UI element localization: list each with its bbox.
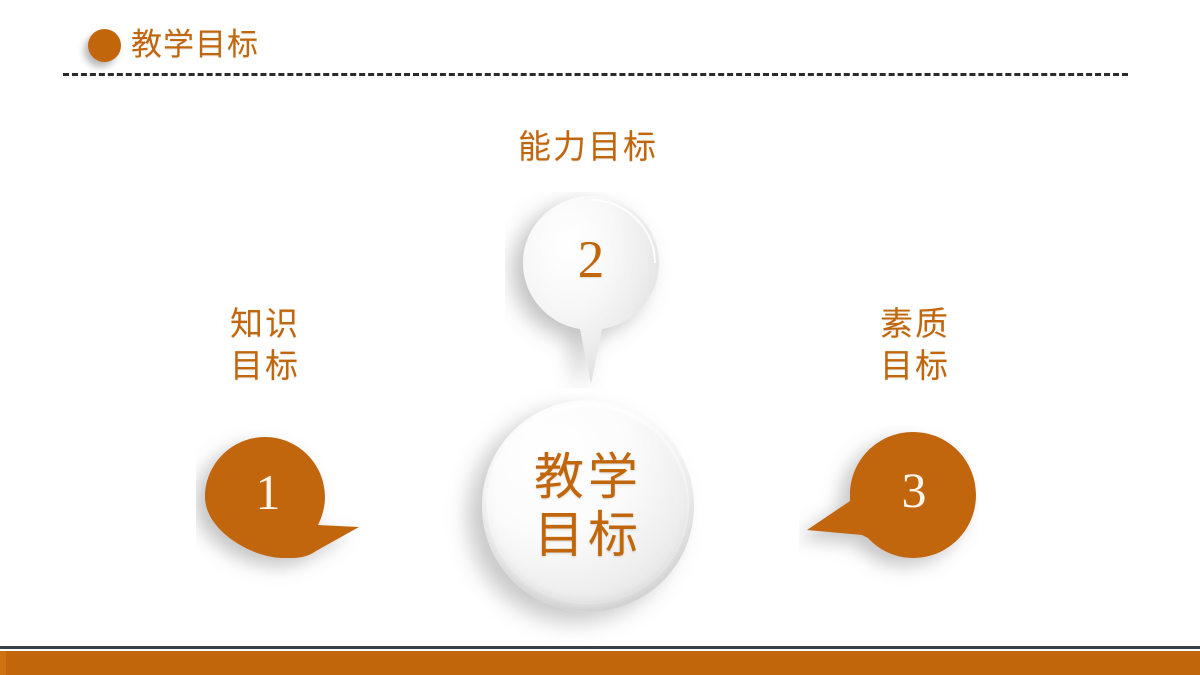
balloon-shape-light [505, 192, 677, 388]
footer-accent-bar [0, 651, 1200, 675]
footer-divider-line [0, 646, 1200, 649]
diagram-center-node[interactable]: 教学 目标 [482, 400, 694, 612]
node-number-2: 2 [505, 232, 677, 288]
node-label-right: 素质 目标 [805, 303, 1025, 387]
diagram-node-2[interactable]: 2 [505, 192, 677, 388]
slide-header: 教学目标 [0, 0, 1200, 95]
node-number-3: 3 [849, 462, 979, 518]
center-label: 教学 目标 [482, 400, 694, 612]
node-label-top: 能力目标 [428, 126, 748, 168]
slide-canvas: 教学目标 能力目标 知识 目标 素质 目标 2 [0, 0, 1200, 675]
node-number-1: 1 [203, 464, 333, 520]
diagram-node-3[interactable]: 3 [799, 426, 979, 586]
node-label-left: 知识 目标 [155, 303, 375, 387]
diagram-node-1[interactable]: 1 [196, 428, 376, 588]
header-dashed-divider [63, 73, 1128, 76]
filled-circle-bullet-icon [88, 29, 121, 62]
page-title: 教学目标 [131, 24, 259, 66]
footer-bar-edge [0, 651, 6, 675]
